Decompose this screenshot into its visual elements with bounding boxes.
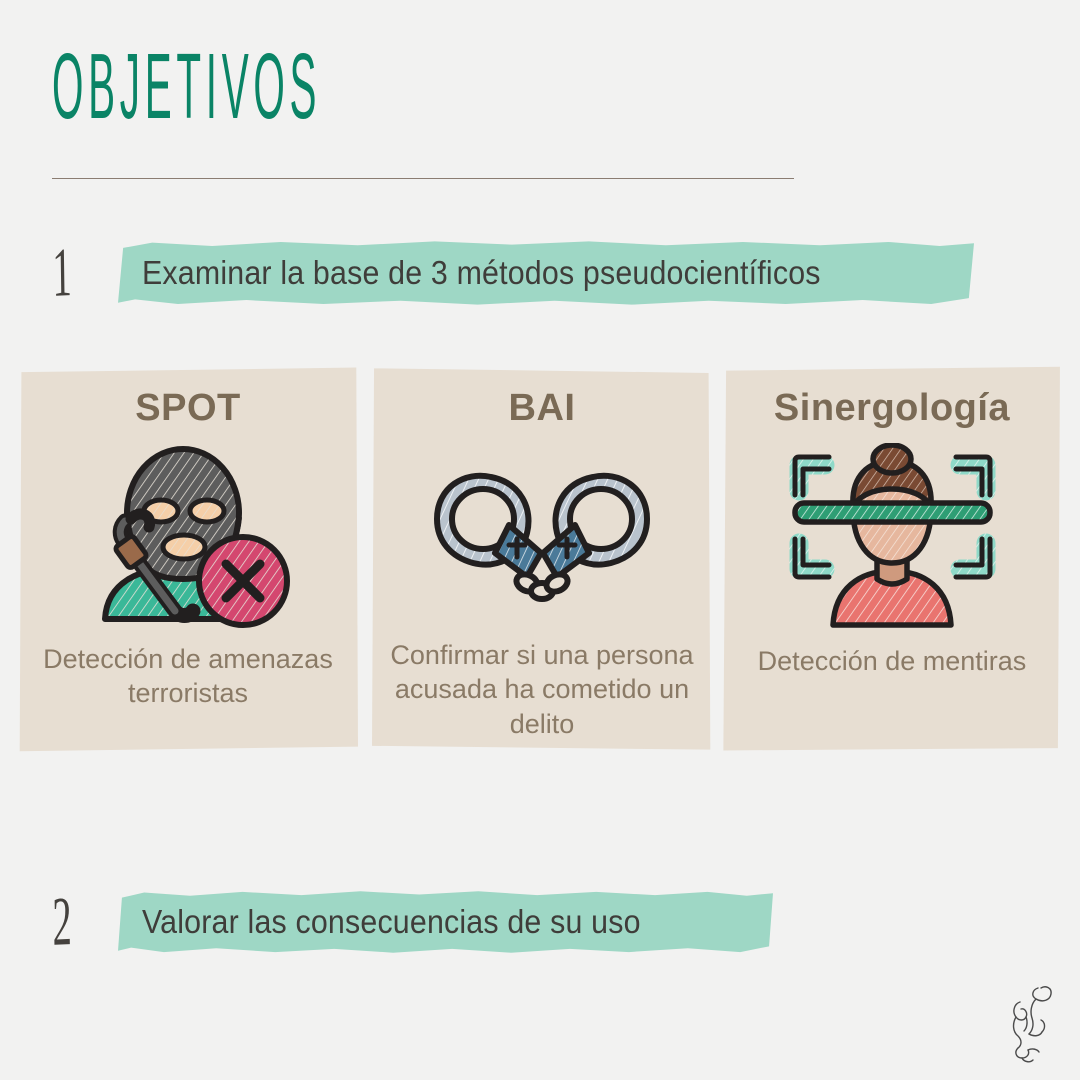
face-scan-icon (722, 438, 1062, 634)
card-title-bai: BAI (372, 388, 712, 430)
card-sinergologia[interactable]: Sinergología (722, 366, 1062, 752)
masked-terrorist-denied-icon (18, 438, 358, 634)
card-bai[interactable]: BAI (372, 366, 712, 752)
page-title: OBJETIVOS (52, 40, 321, 133)
goal-number-1: 1 (45, 238, 78, 309)
card-spot[interactable]: SPOT (18, 366, 358, 752)
slide-root: OBJETIVOS 1 Examinar la base de 3 método… (0, 0, 1080, 1080)
goal-row-1: 1 Examinar la base de 3 métodos pseudoci… (36, 240, 974, 306)
card-caption-sinergologia: Detección de mentiras (722, 644, 1062, 679)
goal-number-2: 2 (45, 887, 78, 958)
title-divider (52, 178, 794, 179)
goal-row-2: 2 Valorar las consecuencias de su uso (36, 890, 773, 954)
card-caption-bai: Confirmar si una persona acusada ha come… (372, 638, 712, 742)
method-cards: SPOT (0, 366, 1080, 756)
goal-text-1: Examinar la base de 3 métodos pseudocien… (142, 254, 907, 292)
card-title-sinergologia: Sinergología (722, 388, 1062, 430)
goal-highlight-1: Examinar la base de 3 métodos pseudocien… (118, 240, 974, 306)
goal-text-2: Valorar las consecuencias de su uso (142, 903, 723, 941)
two-faces-line-art-logo (998, 982, 1060, 1066)
goal-highlight-2: Valorar las consecuencias de su uso (118, 890, 773, 954)
card-title-spot: SPOT (18, 388, 358, 430)
handcuffs-icon (372, 438, 712, 634)
card-caption-spot: Detección de amenazas terroristas (18, 642, 358, 711)
